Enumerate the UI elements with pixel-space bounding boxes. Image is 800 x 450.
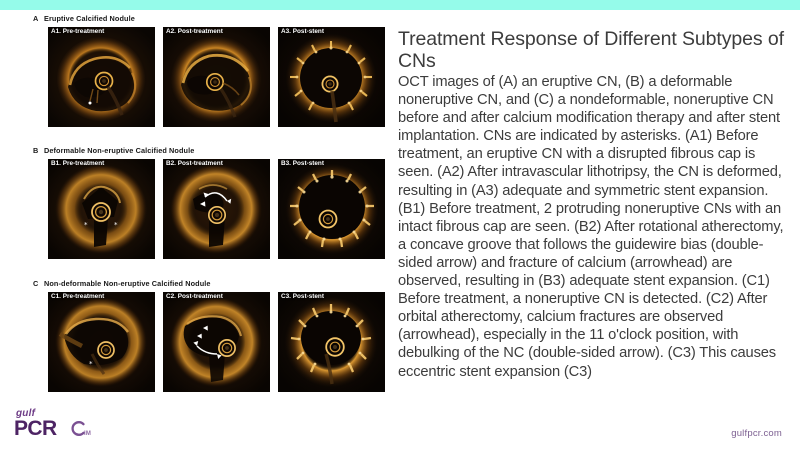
oct-image-c3 bbox=[278, 292, 385, 392]
slide-text-column: Treatment Response of Different Subtypes… bbox=[398, 28, 790, 381]
oct-panel-b3[interactable]: B3. Post-stent bbox=[278, 159, 385, 259]
panel-label-b3: B3. Post-stent bbox=[281, 160, 324, 167]
panel-label-c1: C1. Pre-treatment bbox=[51, 293, 104, 300]
slide-body-text: OCT images of (A) an eruptive CN, (B) a … bbox=[398, 73, 790, 381]
group-letter-a: A bbox=[33, 14, 44, 23]
oct-panel-a3[interactable]: A3. Post-stent bbox=[278, 27, 385, 127]
panel-label-b1: B1. Pre-treatment bbox=[51, 160, 104, 167]
oct-image-b3 bbox=[278, 159, 385, 259]
logo-pcr-text: PCR bbox=[14, 418, 57, 439]
group-header-c: CNon-deformable Non-eruptive Calcified N… bbox=[33, 279, 211, 288]
oct-panel-b1[interactable]: B1. Pre-treatment bbox=[48, 159, 155, 259]
panel-label-c2: C2. Post-treatment bbox=[166, 293, 223, 300]
site-url: gulfpcr.com bbox=[731, 428, 782, 439]
panel-label-a1: A1. Pre-treatment bbox=[51, 28, 104, 35]
oct-panel-a1[interactable]: A1. Pre-treatment bbox=[48, 27, 155, 127]
panel-row-a: A1. Pre-treatment bbox=[48, 27, 385, 127]
panel-label-c3: C3. Post-stent bbox=[281, 293, 324, 300]
slide-canvas: AEruptive Calcified Nodule A1. Pre-treat… bbox=[0, 0, 800, 450]
top-accent-bar bbox=[0, 0, 800, 10]
group-title-c: Non-deformable Non-eruptive Calcified No… bbox=[44, 279, 211, 288]
logo-im-text: IM bbox=[84, 431, 91, 437]
oct-image-b2 bbox=[163, 159, 270, 259]
panel-label-b2: B2. Post-treatment bbox=[166, 160, 223, 167]
oct-image-a2 bbox=[163, 27, 270, 127]
group-header-a: AEruptive Calcified Nodule bbox=[33, 14, 135, 23]
oct-panel-b2[interactable]: B2. Post-treatment bbox=[163, 159, 270, 259]
oct-figure-panel: AEruptive Calcified Nodule A1. Pre-treat… bbox=[0, 14, 395, 404]
panel-label-a2: A2. Post-treatment bbox=[166, 28, 223, 35]
group-letter-b: B bbox=[33, 146, 44, 155]
oct-image-b1: * * bbox=[48, 159, 155, 259]
slide-title: Treatment Response of Different Subtypes… bbox=[398, 28, 790, 72]
oct-panel-c2[interactable]: C2. Post-treatment bbox=[163, 292, 270, 392]
svg-text:*: * bbox=[114, 221, 118, 229]
oct-panel-a2[interactable]: A2. Post-treatment bbox=[163, 27, 270, 127]
gulf-pcr-logo: gulf PCR IM bbox=[14, 408, 124, 444]
group-letter-c: C bbox=[33, 279, 44, 288]
group-title-b: Deformable Non-eruptive Calcified Nodule bbox=[44, 146, 194, 155]
panel-row-b: B1. Pre-treatment bbox=[48, 159, 385, 259]
group-title-a: Eruptive Calcified Nodule bbox=[44, 14, 135, 23]
oct-panel-c3[interactable]: C3. Post-stent bbox=[278, 292, 385, 392]
oct-image-c1: * bbox=[48, 292, 155, 392]
oct-panel-c1[interactable]: C1. Pre-treatment bbox=[48, 292, 155, 392]
oct-image-c2 bbox=[163, 292, 270, 392]
panel-row-c: C1. Pre-treatment bbox=[48, 292, 385, 392]
oct-image-a3 bbox=[278, 27, 385, 127]
svg-text:*: * bbox=[84, 221, 88, 229]
panel-label-a3: A3. Post-stent bbox=[281, 28, 324, 35]
svg-text:*: * bbox=[89, 360, 93, 368]
group-header-b: BDeformable Non-eruptive Calcified Nodul… bbox=[33, 146, 194, 155]
oct-image-a1 bbox=[48, 27, 155, 127]
